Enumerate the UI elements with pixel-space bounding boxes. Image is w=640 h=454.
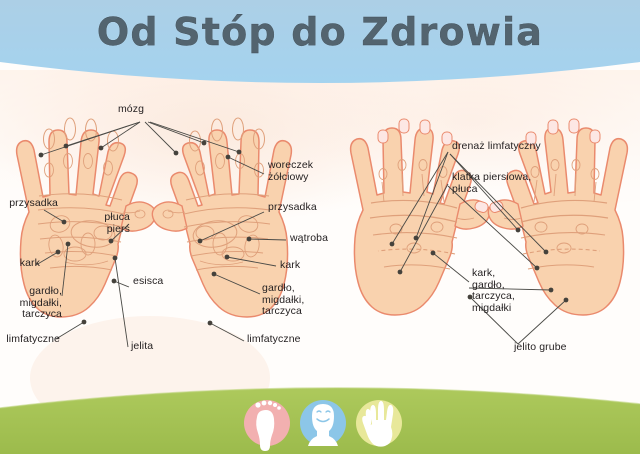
smiling-face-icon-button[interactable] — [300, 400, 346, 446]
footer-icon-row — [0, 0, 640, 454]
poster-canvas: Od Stóp do Zdrowia mózg przysadka kark g… — [0, 0, 640, 454]
footprint-icon-button[interactable] — [244, 400, 290, 451]
open-hand-icon-button[interactable] — [356, 400, 402, 447]
